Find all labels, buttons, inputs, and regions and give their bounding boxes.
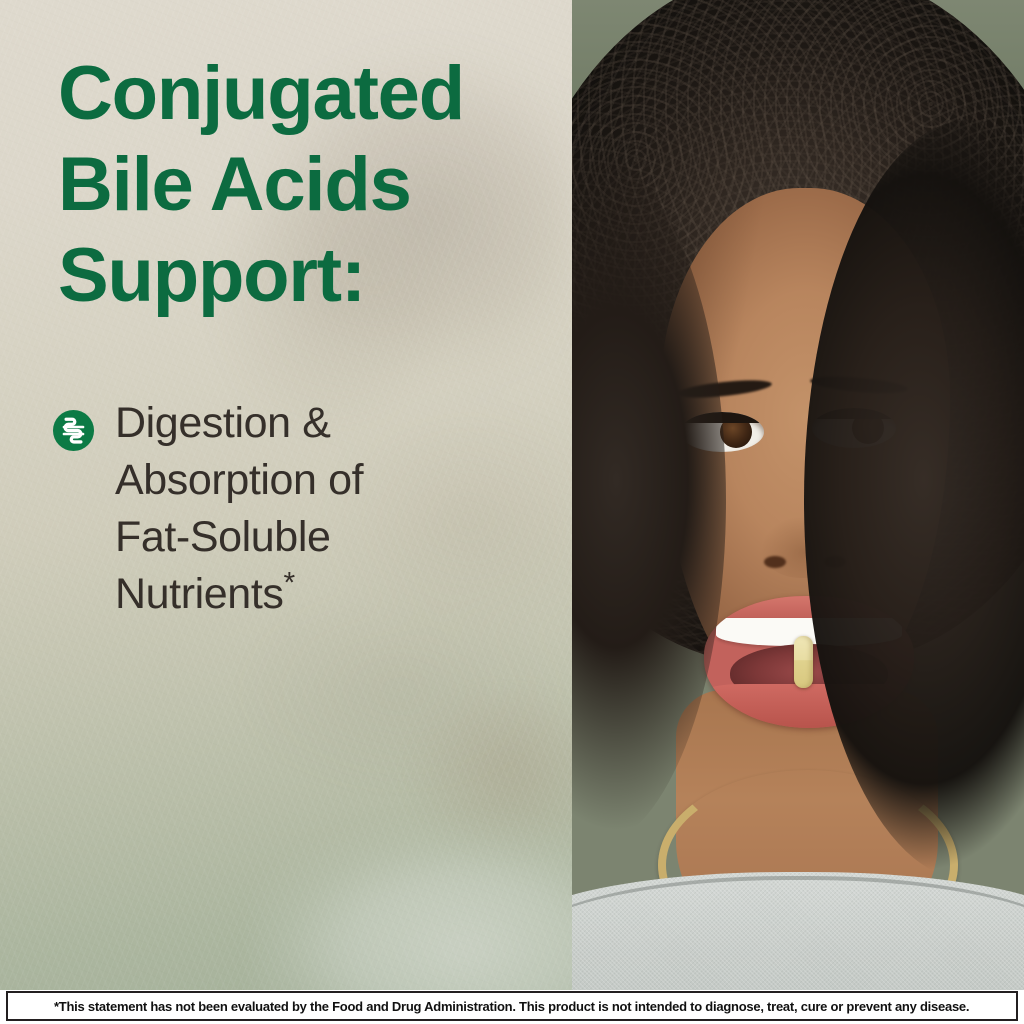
footnote-marker: * (283, 567, 294, 600)
headline-line-2: Bile Acids (58, 139, 558, 230)
benefit-list-item: Digestion & Absorption of Fat-Soluble Nu… (52, 395, 522, 623)
headline-line-3: Support: (58, 230, 558, 321)
benefit-line-2: Absorption of (115, 452, 363, 509)
headline-line-1: Conjugated (58, 48, 558, 139)
nostril-left (764, 556, 786, 568)
benefit-text: Digestion & Absorption of Fat-Soluble Nu… (115, 395, 363, 623)
fda-disclaimer-banner: *This statement has not been evaluated b… (6, 991, 1018, 1021)
product-benefit-banner: Conjugated Bile Acids Support: Digestion… (0, 0, 1024, 1024)
benefit-line-1: Digestion & (115, 395, 363, 452)
digestive-tract-icon (52, 409, 95, 452)
benefit-line-4-text: Nutrients (115, 570, 283, 618)
benefit-line-3: Fat-Soluble (115, 509, 363, 566)
yellow-capsule (794, 636, 813, 688)
benefit-line-4: Nutrients* (115, 566, 363, 623)
shirt-collar (572, 876, 1024, 990)
product-lifestyle-photo (572, 0, 1024, 990)
fda-disclaimer-text: *This statement has not been evaluated b… (54, 999, 969, 1014)
page-title: Conjugated Bile Acids Support: (58, 48, 558, 321)
